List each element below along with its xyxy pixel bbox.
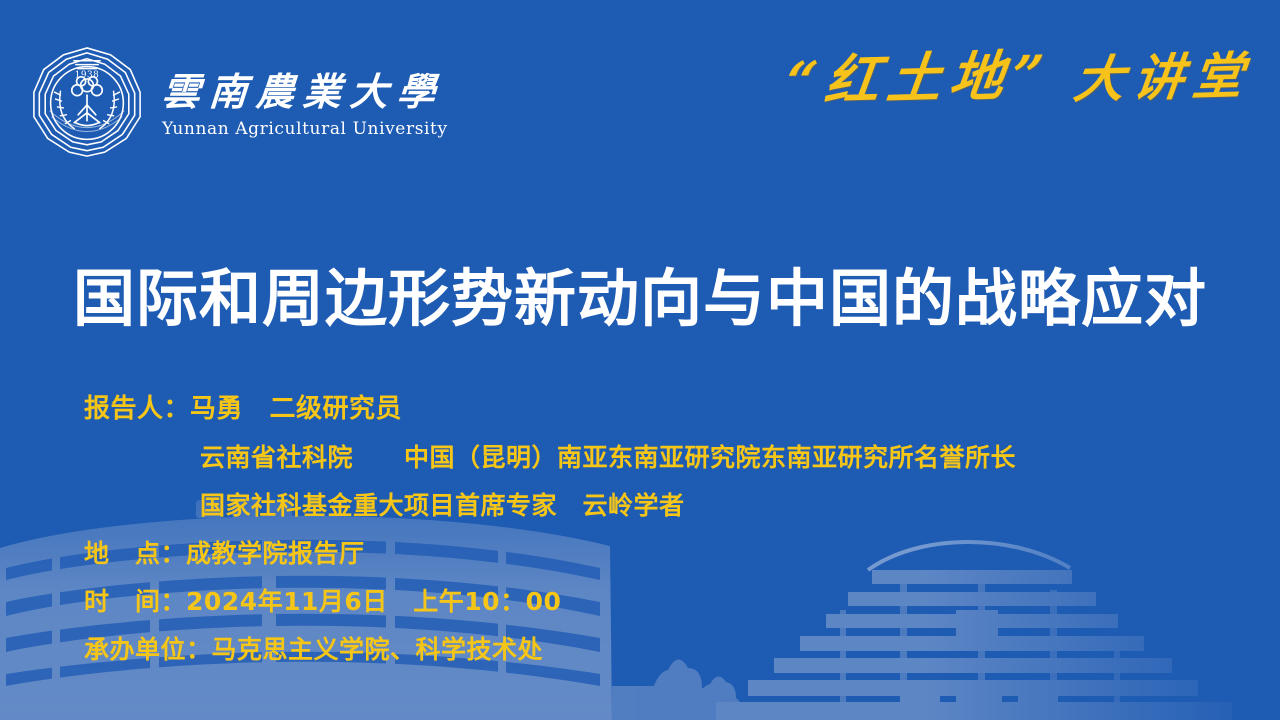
detail-value-organizers: 马克思主义学院、科学技术处 [212, 635, 544, 664]
lecture-details: 报告人：马勇 二级研究员 云南省社科院 中国（昆明）南亚东南亚研究院东南亚研究所… [84, 396, 1214, 662]
lecture-poster: 1938 雲南農業大學 Yunnan Agricultural Universi… [0, 0, 1280, 720]
series-quoted-name: “红土地” [782, 31, 1056, 117]
detail-row-affiliation-2: 国家社科基金重大项目首席专家 云岭学者 [84, 493, 1214, 518]
university-name-en: Yunnan Agricultural University [162, 119, 448, 139]
detail-value-affiliation-1: 云南省社科院 中国（昆明）南亚东南亚研究院东南亚研究所名誉所长 [200, 443, 1016, 472]
university-name-block: 雲南農業大學 Yunnan Agricultural University [162, 71, 448, 140]
detail-label-organizers: 承办单位： [84, 635, 212, 664]
detail-row-affiliation-1: 云南省社科院 中国（昆明）南亚东南亚研究院东南亚研究所名誉所长 [84, 445, 1214, 470]
emblem-year: 1938 [75, 70, 99, 80]
detail-row-time: 时 间：2024年11月6日 上午10：00 [84, 589, 1214, 614]
detail-value-affiliation-2: 国家社科基金重大项目首席专家 云岭学者 [200, 491, 685, 520]
detail-value-speaker: 马勇 二级研究员 [190, 394, 402, 424]
poster-header: 1938 雲南農業大學 Yunnan Agricultural Universi… [0, 0, 1280, 165]
detail-label-speaker: 报告人： [84, 394, 190, 424]
detail-row-speaker: 报告人：马勇 二级研究员 [84, 396, 1214, 422]
page-title: 国际和周边形势新动向与中国的战略应对 [0, 264, 1280, 333]
lecture-series-title: “红土地” 大讲堂 [787, 34, 1252, 113]
university-emblem-icon: 1938 [28, 44, 146, 162]
series-suffix: 大讲堂 [1071, 35, 1257, 112]
detail-value-venue: 成教学院报告厅 [186, 539, 365, 568]
university-brand: 1938 雲南農業大學 Yunnan Agricultural Universi… [28, 44, 448, 162]
detail-row-venue: 地 点：成教学院报告厅 [84, 541, 1214, 566]
detail-row-organizers: 承办单位：马克思主义学院、科学技术处 [84, 637, 1214, 662]
detail-value-time: 2024年11月6日 上午10：00 [186, 587, 561, 616]
detail-label-venue: 地 点： [84, 539, 186, 568]
university-name-cn: 雲南農業大學 [161, 71, 450, 113]
detail-label-time: 时 间： [84, 587, 186, 616]
